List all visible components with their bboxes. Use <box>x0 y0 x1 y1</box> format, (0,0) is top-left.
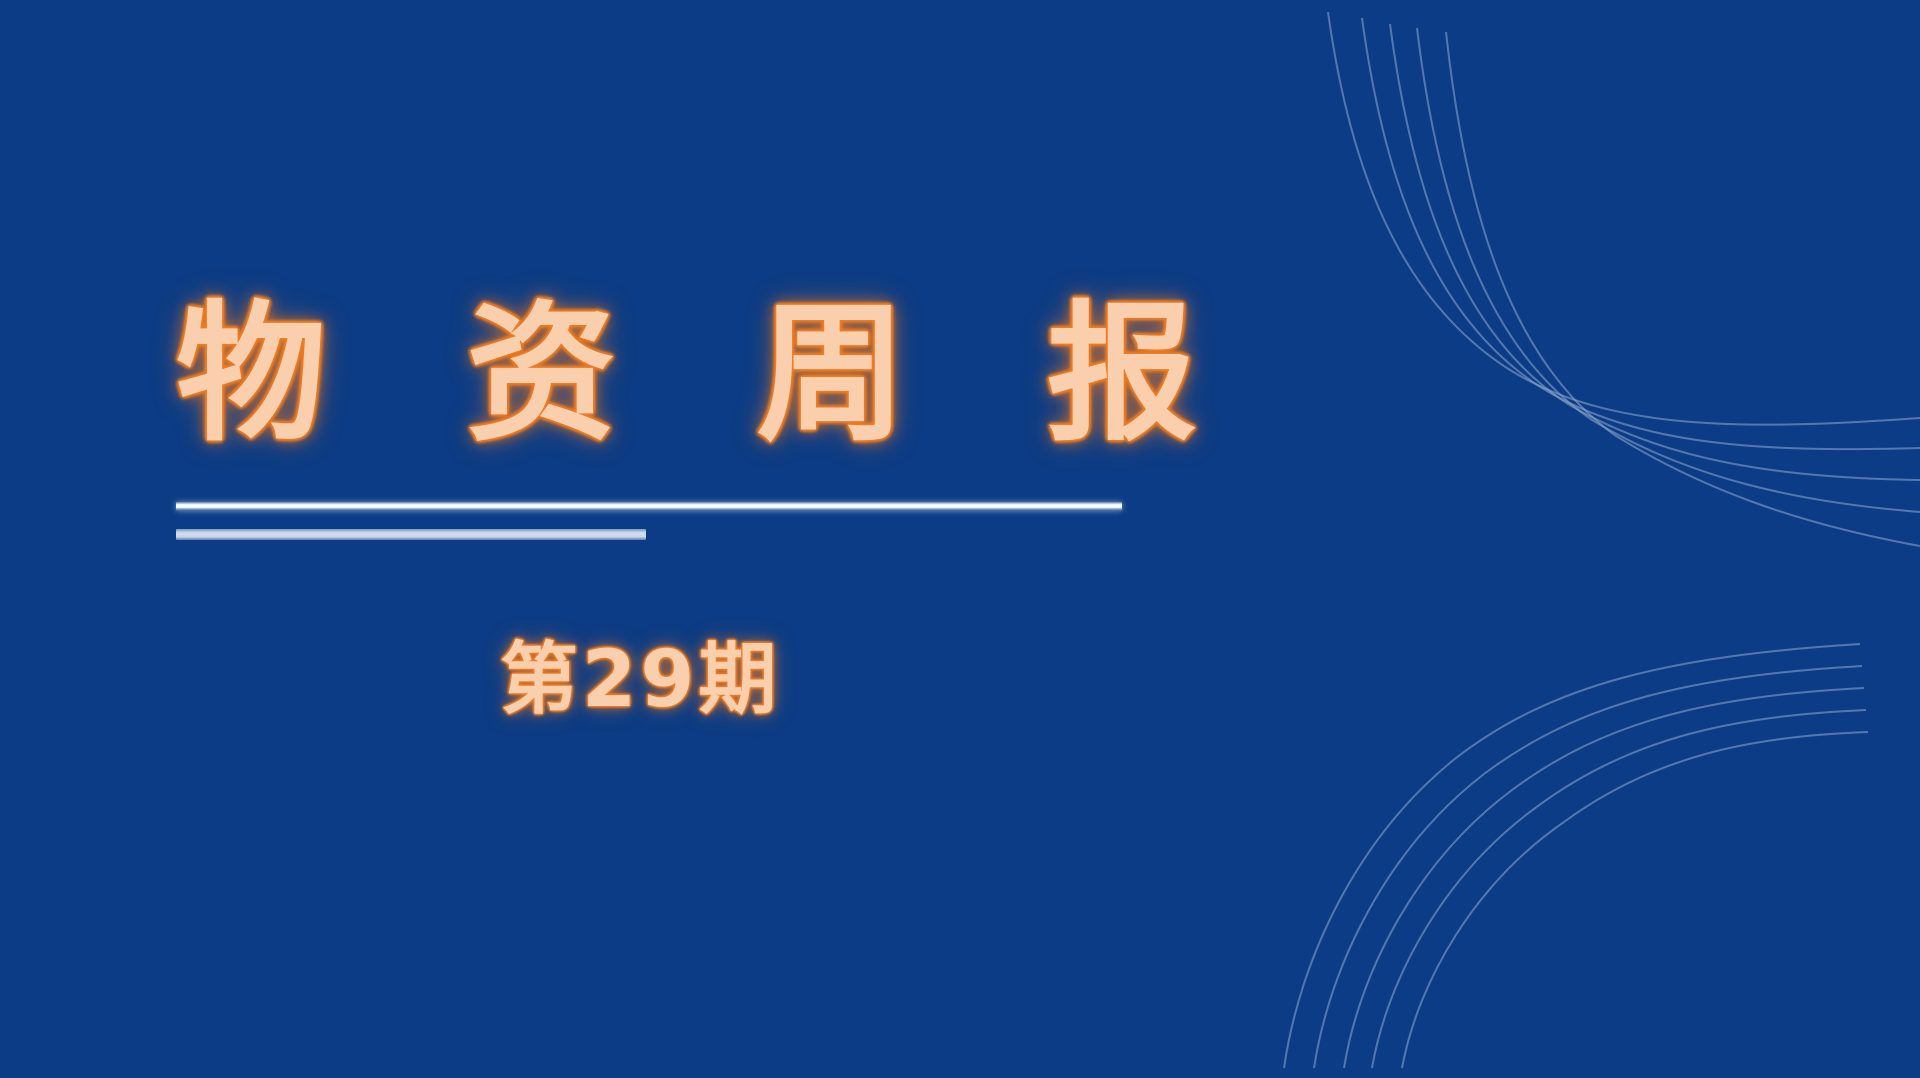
flowing-curves-bottom-right-decoration <box>1240 598 1920 1078</box>
curve-line-2 <box>1362 18 1920 449</box>
flowing-curves-top-right-decoration <box>1280 0 1920 600</box>
curve-line-5 <box>1446 32 1920 546</box>
page-title: 物 资 周 报 <box>176 300 1276 450</box>
title-slide: 物 资 周 报 第29期 <box>0 0 1920 1078</box>
curve-line-3 <box>1344 688 1864 1068</box>
curve-line-1 <box>1284 644 1860 1068</box>
curves-top-right-svg <box>1280 0 1920 600</box>
curve-line-4 <box>1372 710 1866 1068</box>
curve-line-1 <box>1328 12 1920 425</box>
title-underline-primary <box>176 502 1122 511</box>
curve-line-3 <box>1390 24 1920 480</box>
curves-bottom-right-svg <box>1240 598 1920 1078</box>
title-block: 物 资 周 报 <box>176 300 1276 450</box>
curve-line-4 <box>1417 28 1920 512</box>
page-subtitle-issue-number: 第29期 <box>500 640 781 722</box>
title-underline-secondary <box>176 529 646 540</box>
curve-line-2 <box>1314 666 1862 1068</box>
curve-line-5 <box>1402 732 1868 1068</box>
